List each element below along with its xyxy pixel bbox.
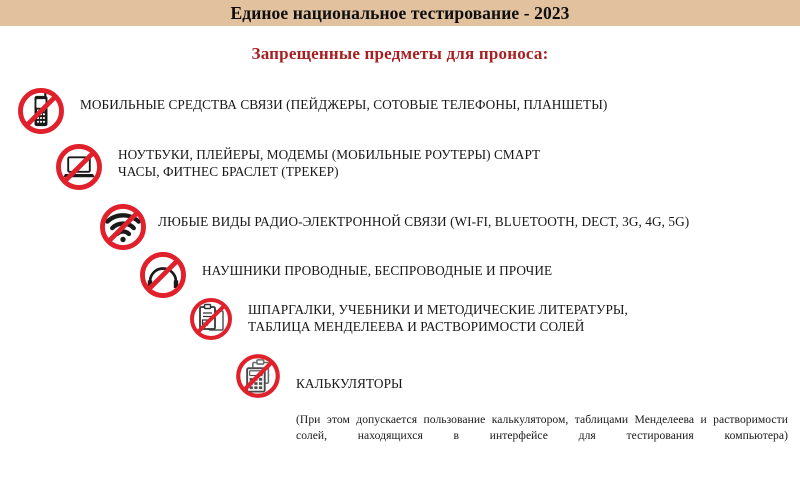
no-headphones-icon	[136, 248, 190, 302]
page-title: Единое национальное тестирование - 2023	[230, 3, 569, 24]
list-item: НОУТБУКИ, ПЛЕЙЕРЫ, МОДЕМЫ (МОБИЛЬНЫЕ РОУ…	[52, 140, 540, 194]
no-calculator-icon	[232, 350, 284, 402]
no-clipboard-icon	[186, 294, 236, 344]
subtitle-prohibited-items: Запрещенные предметы для проноса:	[0, 44, 800, 64]
no-wifi-icon	[96, 200, 150, 254]
no-mobile-phone-icon	[14, 84, 68, 138]
list-item-note: (При этом допускается пользование кальку…	[296, 412, 788, 461]
list-item: МОБИЛЬНЫЕ СРЕДСТВА СВЯЗИ (ПЕЙДЖЕРЫ, СОТО…	[14, 84, 607, 138]
list-item-block: КАЛЬКУЛЯТОРЫ (При этом допускается польз…	[296, 350, 788, 478]
header-band: Единое национальное тестирование - 2023	[0, 0, 800, 26]
list-item: ЛЮБЫЕ ВИДЫ РАДИО-ЭЛЕКТРОННОЙ СВЯЗИ (WI-F…	[96, 200, 689, 254]
list-item-label: НАУШНИКИ ПРОВОДНЫЕ, БЕСПРОВОДНЫЕ И ПРОЧИ…	[202, 248, 552, 279]
prohibited-items-list: МОБИЛЬНЫЕ СРЕДСТВА СВЯЗИ (ПЕЙДЖЕРЫ, СОТО…	[0, 82, 800, 460]
list-item-label: НОУТБУКИ, ПЛЕЙЕРЫ, МОДЕМЫ (МОБИЛЬНЫЕ РОУ…	[118, 140, 540, 181]
list-item-label: КАЛЬКУЛЯТОРЫ	[296, 375, 788, 392]
no-laptop-icon	[52, 140, 106, 194]
list-item: КАЛЬКУЛЯТОРЫ (При этом допускается польз…	[232, 350, 788, 478]
list-item-label: ЛЮБЫЕ ВИДЫ РАДИО-ЭЛЕКТРОННОЙ СВЯЗИ (WI-F…	[158, 200, 689, 230]
list-item: ШПАРГАЛКИ, УЧЕБНИКИ И МЕТОДИЧЕСКИЕ ЛИТЕР…	[186, 294, 628, 344]
list-item-label: МОБИЛЬНЫЕ СРЕДСТВА СВЯЗИ (ПЕЙДЖЕРЫ, СОТО…	[80, 84, 607, 113]
list-item-label: ШПАРГАЛКИ, УЧЕБНИКИ И МЕТОДИЧЕСКИЕ ЛИТЕР…	[248, 294, 628, 336]
